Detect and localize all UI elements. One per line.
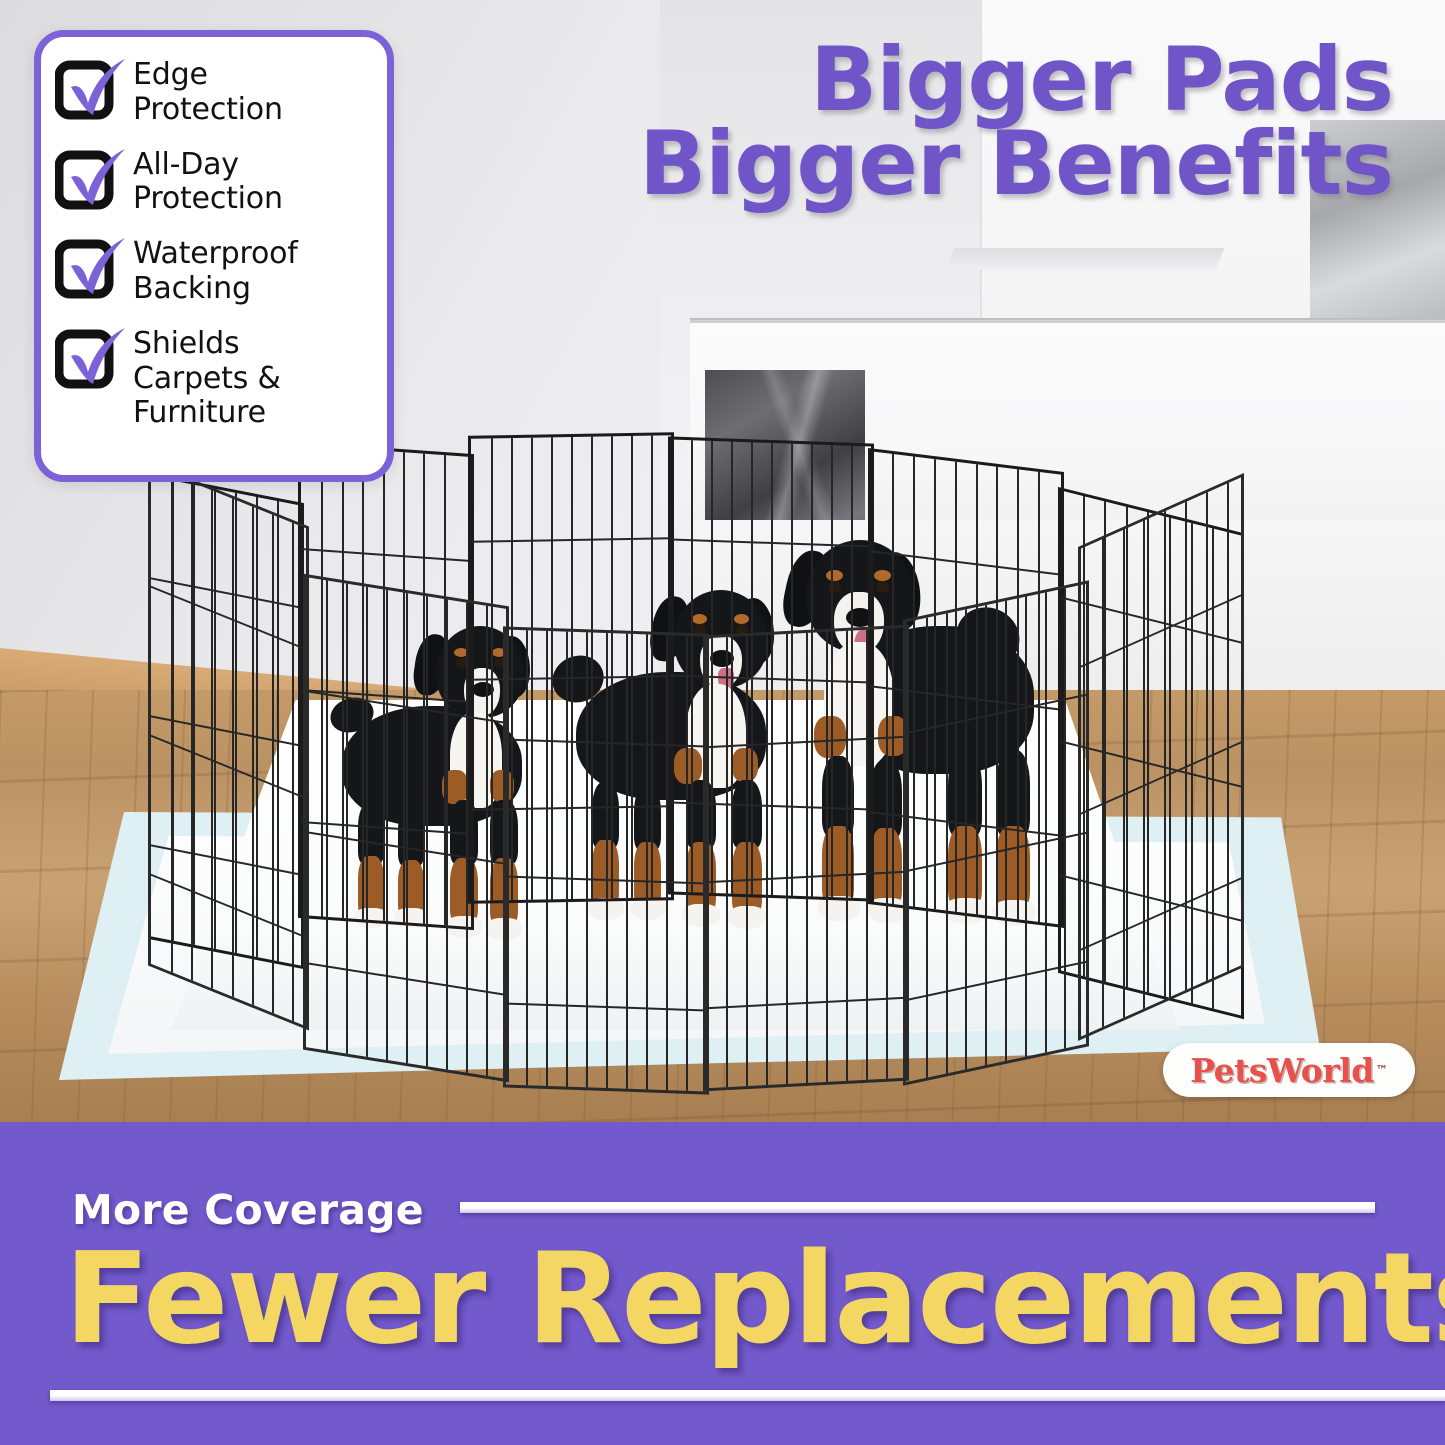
checkbox-check-icon [55, 328, 119, 386]
headline-line-2: Bigger Benefits [639, 122, 1393, 206]
checkbox-check-icon [55, 59, 119, 117]
brand-name: PetsWorld [1190, 1051, 1374, 1090]
pen-panel-front-center-left [303, 574, 509, 1083]
feature-item-waterproof-backing: WaterproofBacking [55, 234, 373, 307]
feature-label: All-DayProtection [133, 145, 283, 218]
product-marketing-image: PetsWorld™ Bigger Pads Bigger Benefits E… [0, 0, 1445, 1445]
feature-label: ShieldsCarpets &Furniture [133, 324, 281, 431]
pen-panel-front-left [148, 461, 309, 1030]
feature-label: EdgeProtection [133, 55, 283, 128]
banner-headline: Fewer Replacements [64, 1236, 1445, 1362]
headline-line-1: Bigger Pads [639, 38, 1393, 122]
checkbox-check-icon [55, 238, 119, 296]
feature-item-shields-carpets-furniture: ShieldsCarpets &Furniture [55, 324, 373, 431]
glass-shelf [946, 248, 1225, 270]
feature-list-card: EdgeProtection All-DayProtection Waterpr… [34, 30, 394, 482]
pen-panel-front-center [503, 626, 709, 1094]
feature-label: WaterproofBacking [133, 234, 298, 307]
pen-panel-front-center-right [703, 625, 909, 1092]
feature-item-all-day-protection: All-DayProtection [55, 145, 373, 218]
pen-panel-front-right [903, 580, 1089, 1086]
pen-panel-front-far-right [1078, 473, 1244, 1041]
wire-playpen [118, 430, 1258, 1050]
page-title: Bigger Pads Bigger Benefits [639, 38, 1393, 207]
banner-divider-top [460, 1202, 1375, 1213]
checkbox-check-icon [55, 149, 119, 207]
feature-item-edge-protection: EdgeProtection [55, 55, 373, 128]
banner-divider-bottom [50, 1390, 1445, 1401]
trademark-symbol: ™ [1376, 1063, 1388, 1077]
brand-logo: PetsWorld™ [1163, 1043, 1415, 1097]
